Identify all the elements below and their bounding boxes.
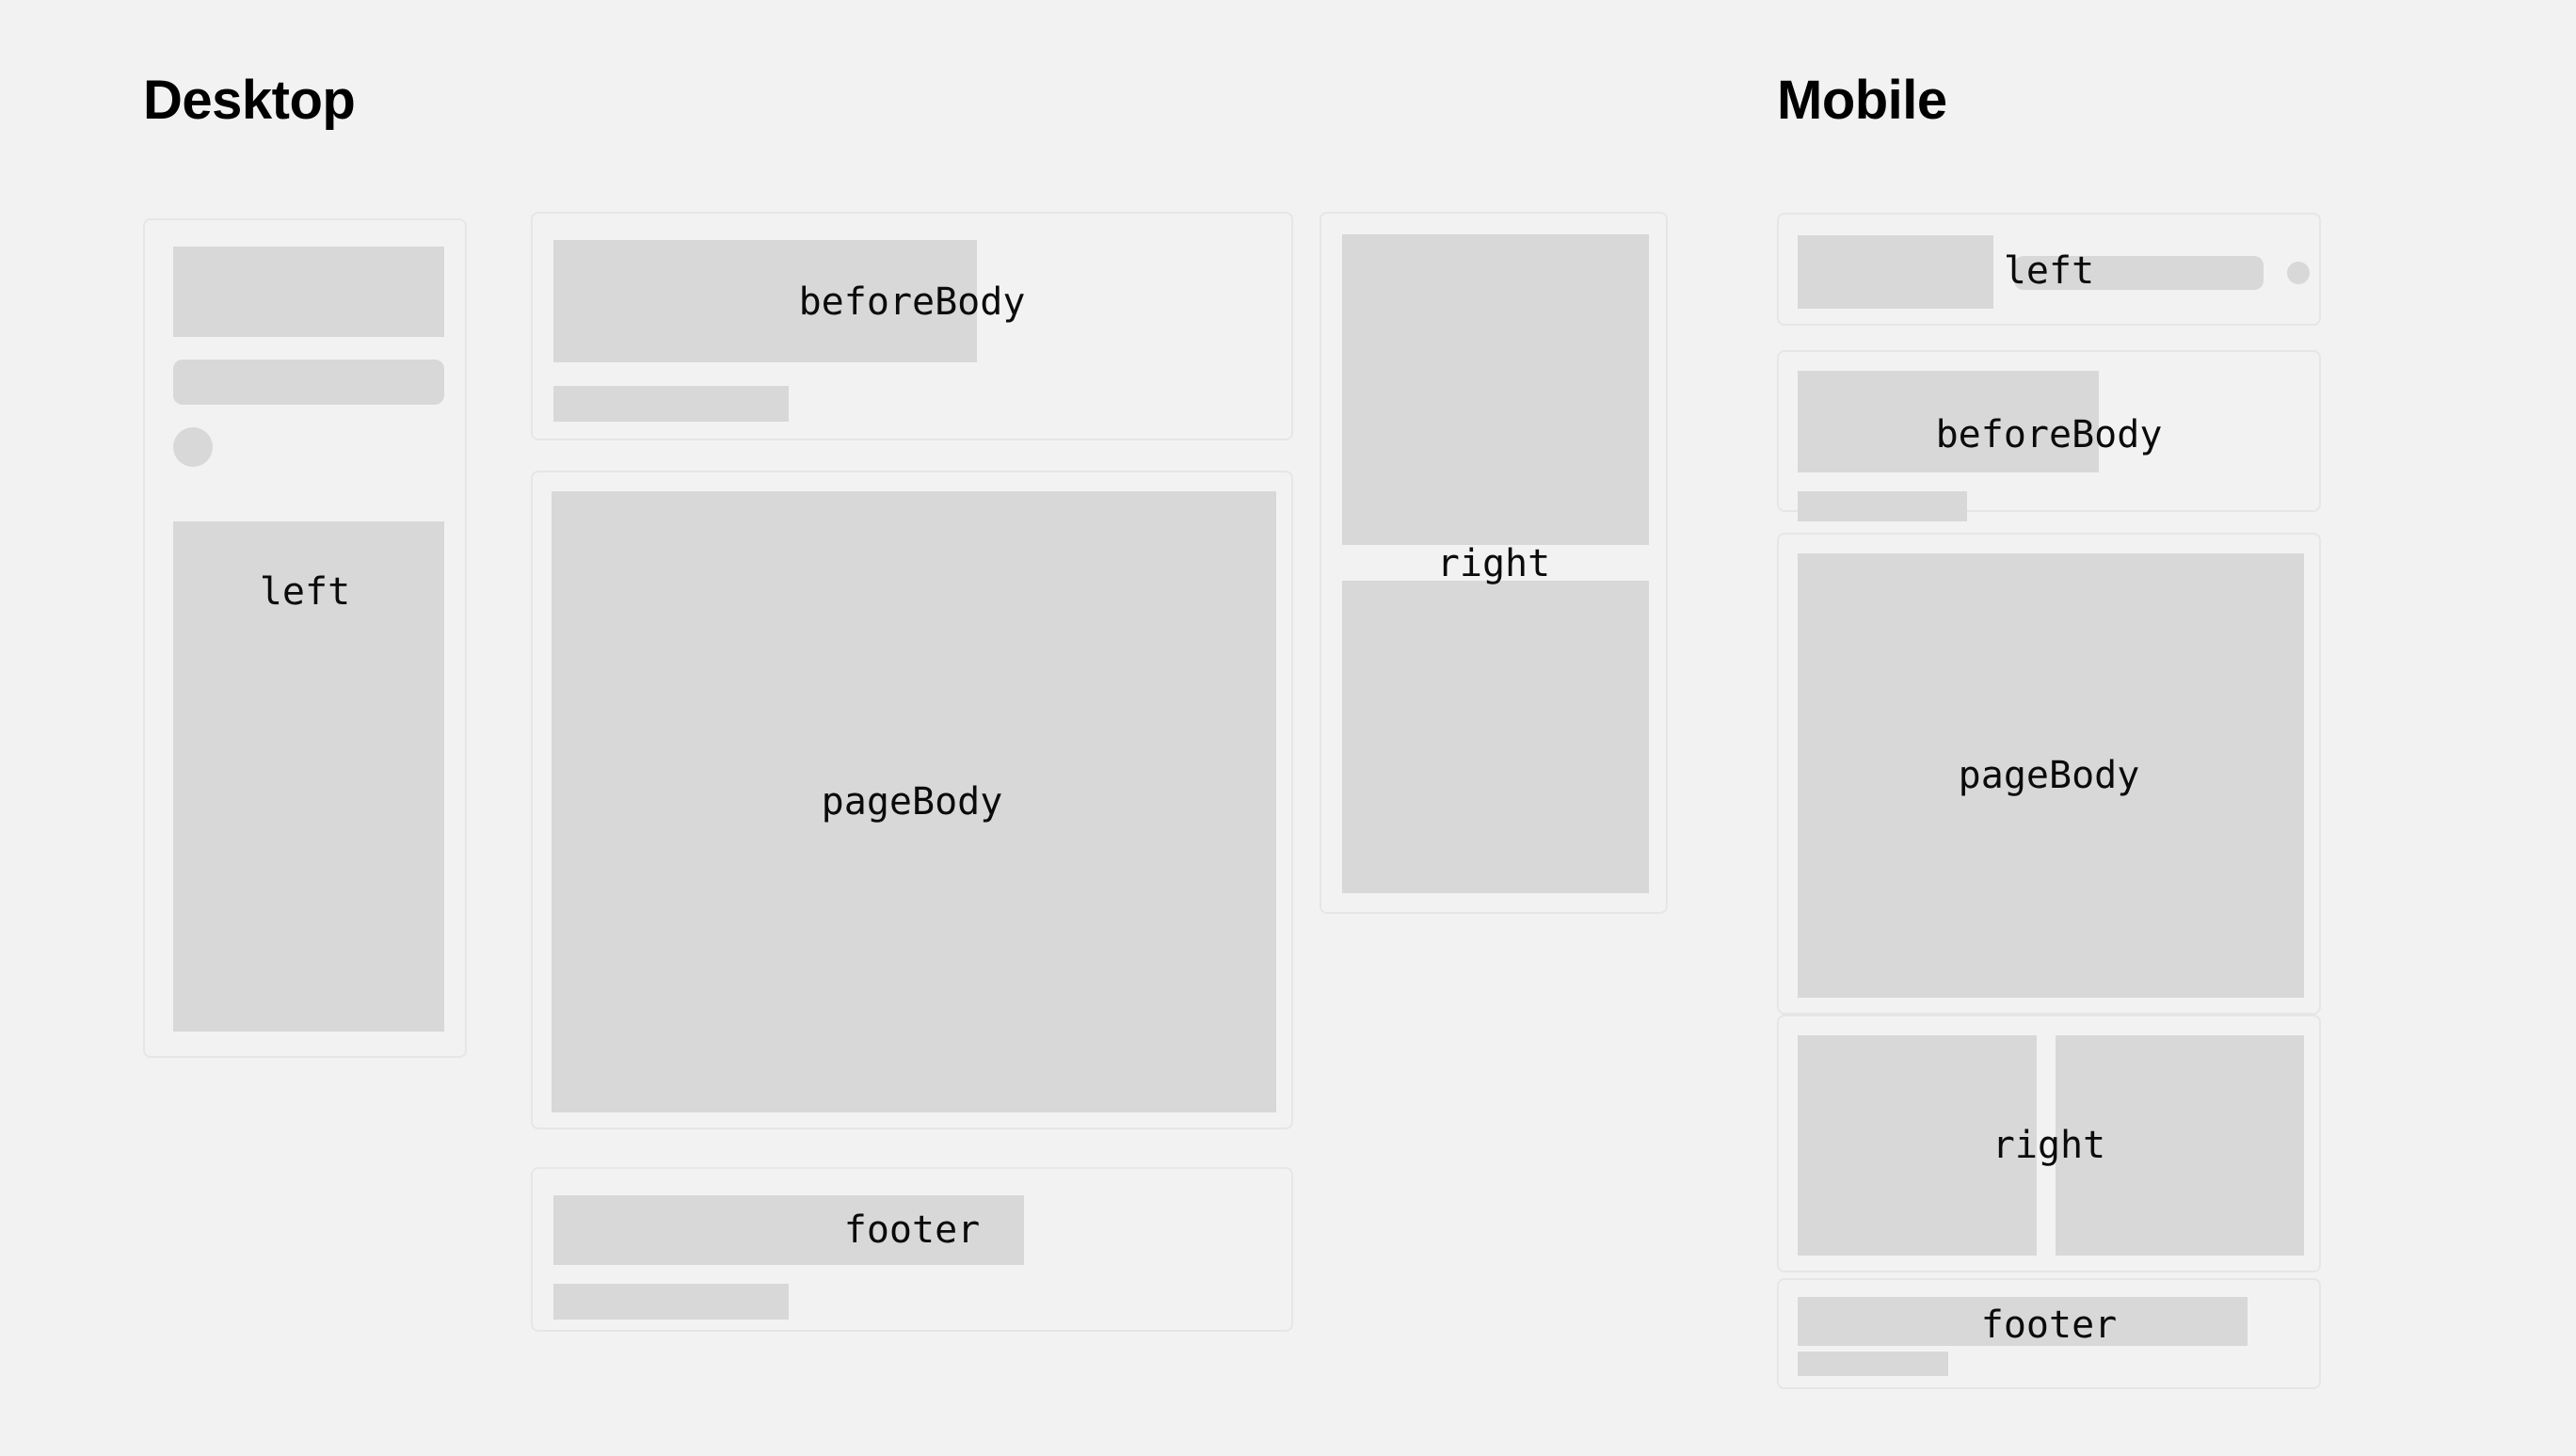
placeholder-circle-icon <box>2287 262 2310 284</box>
placeholder-block <box>1798 1035 2037 1256</box>
desktop-region-beforebody[interactable]: beforeBody <box>531 212 1293 440</box>
placeholder-bar <box>1798 491 1967 521</box>
placeholder-block <box>173 247 444 337</box>
placeholder-bar <box>173 360 444 405</box>
placeholder-block <box>552 491 1276 1112</box>
placeholder-block <box>1342 234 1649 545</box>
desktop-region-footer[interactable]: footer <box>531 1167 1293 1332</box>
placeholder-bar <box>1798 1352 1948 1376</box>
placeholder-block <box>553 240 977 362</box>
placeholder-block <box>1798 553 2304 998</box>
placeholder-block <box>2056 1035 2304 1256</box>
mobile-region-left[interactable]: left <box>1777 213 2321 326</box>
placeholder-bar <box>2014 256 2264 290</box>
placeholder-block <box>553 1195 1024 1265</box>
mobile-region-footer[interactable]: footer <box>1777 1278 2321 1389</box>
placeholder-bar <box>553 386 789 422</box>
mobile-region-right[interactable]: right <box>1777 1015 2321 1272</box>
mobile-region-beforebody[interactable]: beforeBody <box>1777 350 2321 512</box>
desktop-region-right[interactable]: right <box>1320 212 1668 914</box>
desktop-region-pagebody[interactable]: pageBody <box>531 471 1293 1129</box>
placeholder-bar <box>553 1284 789 1320</box>
mobile-section-title: Mobile <box>1777 73 1947 128</box>
placeholder-block <box>1798 1297 2248 1346</box>
placeholder-circle-icon <box>173 427 213 467</box>
placeholder-block <box>1342 581 1649 893</box>
region-label-right: right <box>1321 545 1666 583</box>
mobile-region-pagebody[interactable]: pageBody <box>1777 533 2321 1015</box>
desktop-section-title: Desktop <box>143 73 355 128</box>
placeholder-block <box>173 521 444 1032</box>
placeholder-block <box>1798 235 1993 309</box>
desktop-region-left[interactable]: left <box>143 218 467 1058</box>
placeholder-block <box>1798 371 2099 472</box>
